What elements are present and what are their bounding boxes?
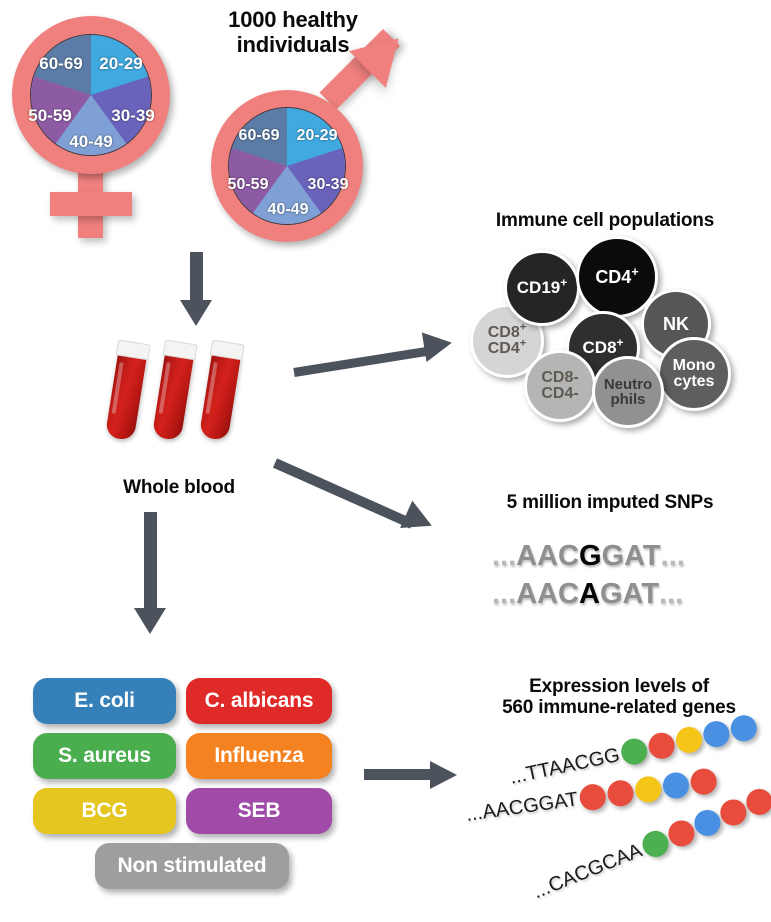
dna-bead bbox=[634, 775, 663, 804]
immune-cell-label-line2: cytes bbox=[674, 374, 715, 390]
arrow-stimulants-to-expression-shaft bbox=[364, 769, 434, 780]
immune-cell-label: NK bbox=[663, 315, 689, 333]
immune-cell-label-line1: Neutro bbox=[604, 377, 652, 392]
immune-cell-monocytes: Mono cytes bbox=[657, 337, 731, 411]
dna-bead bbox=[661, 771, 690, 800]
whole-blood-label: Whole blood bbox=[84, 477, 274, 498]
expression-title-line2: 560 immune-related genes bbox=[470, 697, 768, 718]
stimulant-bcg[interactable]: BCG bbox=[33, 788, 176, 834]
pie-label-30-39: 30-39 bbox=[308, 176, 349, 194]
dna-bead bbox=[619, 736, 650, 767]
blood-tube-body bbox=[105, 354, 147, 442]
snp-sequence-row-2: ...AACAGAT... bbox=[492, 578, 683, 611]
dna-bead bbox=[606, 779, 635, 808]
expression-title-line1: Expression levels of bbox=[470, 676, 768, 697]
immune-cell-label-line1: Mono bbox=[673, 358, 716, 374]
snp-suffix: ... bbox=[659, 578, 683, 611]
stimulant-label: Influenza bbox=[214, 744, 303, 768]
arrow-blood-to-snps-shaft bbox=[273, 458, 414, 528]
blood-tube bbox=[103, 339, 151, 441]
snp-left: AAC bbox=[516, 578, 579, 611]
immune-cell-cd4: CD4+ bbox=[576, 236, 658, 318]
stimulant-label: S. aureus bbox=[58, 744, 151, 768]
snp-left: AAC bbox=[516, 540, 579, 573]
pie-label-20-29: 20-29 bbox=[297, 127, 338, 145]
dna-bead bbox=[690, 806, 724, 840]
dna-bead bbox=[664, 817, 698, 851]
figure-canvas: 20-29 30-39 40-49 50-59 60-69 1000 healt… bbox=[0, 0, 771, 922]
pie-label-40-49: 40-49 bbox=[268, 201, 309, 219]
immune-cell-label-line2: CD4+ bbox=[488, 341, 527, 357]
stimulant-c-albicans[interactable]: C. albicans bbox=[186, 678, 332, 724]
dna-bead bbox=[646, 730, 677, 761]
snp-sequence-row-1: ...AACGGAT... bbox=[492, 540, 685, 573]
blood-tube-body bbox=[152, 354, 194, 442]
snp-right: GAT bbox=[600, 578, 659, 611]
arrow-blood-to-stimulants-shaft bbox=[144, 512, 157, 612]
pie-label-30-39: 30-39 bbox=[111, 106, 154, 126]
blood-tube bbox=[150, 339, 198, 441]
stimulant-label: SEB bbox=[238, 799, 281, 823]
stimulant-label: E. coli bbox=[74, 689, 134, 713]
male-symbol: 20-29 30-39 40-49 50-59 60-69 bbox=[205, 40, 420, 240]
dna-sequence: ...AACGGAT bbox=[464, 788, 579, 827]
snp-title: 5 million imputed SNPs bbox=[460, 492, 760, 513]
stimulant-influenza[interactable]: Influenza bbox=[186, 733, 332, 779]
pie-label-60-69: 60-69 bbox=[239, 127, 280, 145]
immune-cell-neutrophils: Neutro phils bbox=[592, 356, 664, 428]
pie-label-50-59: 50-59 bbox=[28, 106, 71, 126]
blood-tube bbox=[197, 339, 245, 441]
immune-cell-label-line1: CD8- bbox=[541, 370, 578, 386]
stimulant-e-coli[interactable]: E. coli bbox=[33, 678, 176, 724]
dna-bead bbox=[728, 713, 759, 744]
expression-title: Expression levels of 560 immune-related … bbox=[470, 676, 768, 719]
stimulant-seb[interactable]: SEB bbox=[186, 788, 332, 834]
snp-prefix: ... bbox=[492, 578, 516, 611]
pie-label-40-49: 40-49 bbox=[69, 132, 112, 152]
immune-cell-cd19: CD19+ bbox=[504, 250, 580, 326]
pie-label-50-59: 50-59 bbox=[228, 176, 269, 194]
dna-bead bbox=[716, 796, 750, 830]
arrow-blood-to-stimulants-head bbox=[134, 608, 166, 634]
stimulant-label: BCG bbox=[81, 799, 127, 823]
immune-cell-label: CD19+ bbox=[517, 279, 567, 296]
immune-cell-label: CD8+ bbox=[583, 339, 624, 356]
stimulant-label: Non stimulated bbox=[118, 854, 267, 878]
arrow-cohort-to-blood-head bbox=[180, 300, 212, 326]
immune-cell-cd8: CD8+ bbox=[566, 311, 640, 385]
dna-bead bbox=[689, 767, 718, 796]
dna-bead bbox=[578, 783, 607, 812]
arrow-blood-to-immune-head bbox=[422, 328, 454, 362]
snp-prefix: ... bbox=[492, 540, 516, 573]
pie-label-20-29: 20-29 bbox=[99, 54, 142, 74]
blood-tube-body bbox=[199, 354, 241, 442]
female-symbol: 20-29 30-39 40-49 50-59 60-69 bbox=[8, 12, 183, 237]
dna-bead bbox=[701, 719, 732, 750]
immune-cell-nk: NK bbox=[641, 289, 711, 359]
stimulant-label: C. albicans bbox=[205, 689, 314, 713]
arrow-blood-to-immune-shaft bbox=[293, 347, 429, 377]
immune-cell-cd8p-cd4p: CD8+ CD4+ bbox=[470, 304, 544, 378]
arrow-cohort-to-blood-shaft bbox=[190, 252, 203, 304]
arrow-stimulants-to-expression-head bbox=[430, 761, 457, 789]
arrow-blood-to-snps-head bbox=[400, 501, 438, 540]
immune-cell-label-line1: CD8+ bbox=[488, 325, 527, 341]
immune-cell-label: CD4+ bbox=[595, 268, 638, 286]
immune-cell-cd8n-cd4n: CD8- CD4- bbox=[524, 350, 596, 422]
pie-label-60-69: 60-69 bbox=[39, 54, 82, 74]
stimulant-s-aureus[interactable]: S. aureus bbox=[33, 733, 176, 779]
immune-cell-label-line2: CD4- bbox=[541, 386, 578, 402]
snp-right: GAT bbox=[602, 540, 661, 573]
stimulant-non-stimulated[interactable]: Non stimulated bbox=[95, 843, 289, 889]
dna-bead bbox=[673, 725, 704, 756]
snp-variant: G bbox=[579, 540, 602, 573]
dna-sequence: ...CACGCAA bbox=[530, 839, 646, 904]
immune-cell-title: Immune cell populations bbox=[455, 210, 755, 231]
blood-tubes-group bbox=[110, 340, 280, 455]
snp-variant: A bbox=[579, 578, 600, 611]
immune-cell-label-line2: phils bbox=[610, 392, 645, 407]
snp-suffix: ... bbox=[661, 540, 685, 573]
female-symbol-crossbar bbox=[50, 192, 132, 216]
